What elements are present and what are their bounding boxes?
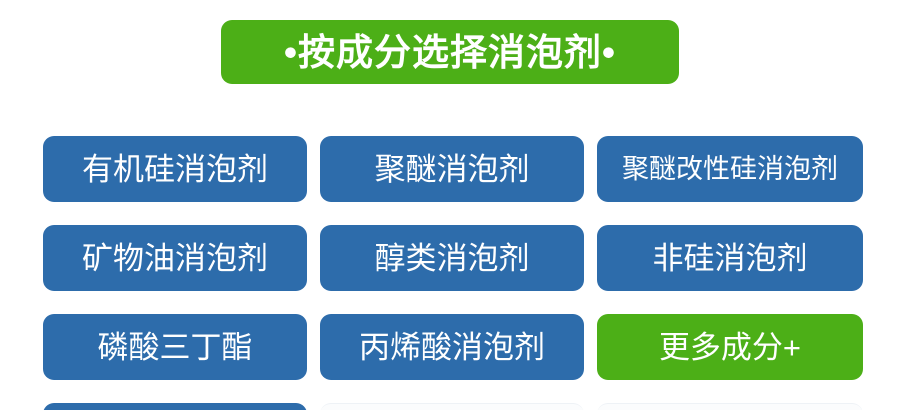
category-button-tributyl-phosphate[interactable]: 磷酸三丁酯 bbox=[43, 314, 307, 380]
page-title-area: •按成分选择消泡剂• bbox=[0, 20, 900, 84]
category-label: 聚醚消泡剂 bbox=[375, 154, 530, 185]
category-button-grid: 有机硅消泡剂 聚醚消泡剂 聚醚改性硅消泡剂 矿物油消泡剂 醇类消泡剂 非硅消泡剂… bbox=[43, 136, 862, 380]
category-button-mineral-oil[interactable]: 矿物油消泡剂 bbox=[43, 225, 307, 291]
category-label: 有机硅消泡剂 bbox=[82, 154, 268, 185]
category-button-partial[interactable] bbox=[597, 403, 862, 410]
category-button-polyether-modified-silicone[interactable]: 聚醚改性硅消泡剂 bbox=[597, 136, 863, 202]
category-label: 磷酸三丁酯 bbox=[98, 332, 253, 363]
category-label: 矿物油消泡剂 bbox=[82, 243, 268, 274]
defoamer-category-panel: •按成分选择消泡剂• 有机硅消泡剂 聚醚消泡剂 聚醚改性硅消泡剂 矿物油消泡剂 … bbox=[0, 0, 900, 410]
page-title: •按成分选择消泡剂• bbox=[284, 34, 616, 71]
category-button-non-silicone[interactable]: 非硅消泡剂 bbox=[597, 225, 863, 291]
page-title-banner: •按成分选择消泡剂• bbox=[221, 20, 679, 84]
category-button-polyether[interactable]: 聚醚消泡剂 bbox=[320, 136, 584, 202]
category-button-acrylic[interactable]: 丙烯酸消泡剂 bbox=[320, 314, 584, 380]
category-label: 聚醚改性硅消泡剂 bbox=[622, 156, 838, 183]
category-button-partial[interactable] bbox=[43, 403, 307, 410]
more-ingredients-button[interactable]: 更多成分+ bbox=[597, 314, 863, 380]
category-label: 丙烯酸消泡剂 bbox=[359, 332, 545, 363]
category-button-organosilicon[interactable]: 有机硅消泡剂 bbox=[43, 136, 307, 202]
category-button-alcohol[interactable]: 醇类消泡剂 bbox=[320, 225, 584, 291]
category-grid-next-row-clipped bbox=[43, 403, 862, 410]
category-label: 醇类消泡剂 bbox=[375, 243, 530, 274]
more-ingredients-label: 更多成分+ bbox=[659, 332, 801, 363]
category-button-partial[interactable] bbox=[320, 403, 584, 410]
category-label: 非硅消泡剂 bbox=[653, 243, 808, 274]
